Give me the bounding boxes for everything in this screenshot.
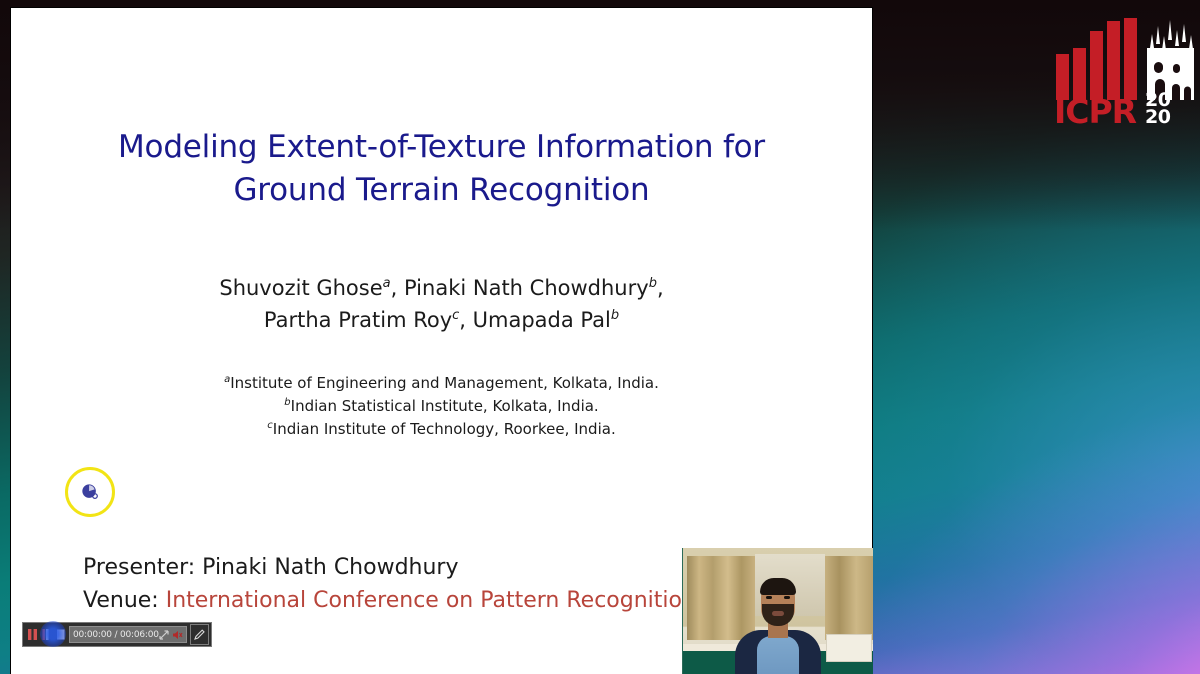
record-icon[interactable] [40, 627, 53, 642]
slide-title-line-1: Modeling Extent-of-Texture Information f… [11, 126, 872, 169]
author-list: Shuvozit Ghosea, Pinaki Nath Chowdhuryb,… [11, 272, 872, 336]
icpr-bar-5 [1124, 18, 1137, 100]
icpr-year: 20 20 [1145, 92, 1170, 126]
time-bar-icons [159, 630, 183, 640]
webcam-person-eye-right [784, 596, 790, 599]
presenter-row: Presenter: Pinaki Nath Chowdhury [83, 551, 696, 584]
affiliation-list: aInstitute of Engineering and Management… [11, 372, 872, 441]
webcam-curtain-right [825, 556, 873, 640]
icpr-bar-3 [1090, 31, 1103, 100]
presenter-webcam-video[interactable] [682, 548, 873, 674]
video-control-bar[interactable]: 00:00:00 / 00:06:00 [22, 622, 212, 647]
author-line-2: Partha Pratim Royc, Umapada Palb [11, 304, 872, 336]
author-affil-marker: a [383, 276, 391, 291]
slide-title-line-2: Ground Terrain Recognition [11, 169, 872, 212]
icpr-logo: ICPR 20 20 [1052, 18, 1196, 128]
icpr-wordmark: ICPR [1054, 95, 1136, 128]
stop-icon[interactable] [54, 627, 67, 642]
webcam-person-hair [760, 578, 796, 595]
duomo-cathedral-icon [1142, 18, 1196, 100]
author-separator: , [391, 276, 404, 300]
author-affil-marker: b [611, 308, 619, 323]
slide-title: Modeling Extent-of-Texture Information f… [11, 126, 872, 212]
playback-buttons [25, 627, 67, 642]
slide-badge [65, 467, 115, 517]
author-name: Partha Pratim Roy [264, 308, 452, 332]
time-display-text: 00:00:00 / 00:06:00 [73, 630, 159, 640]
author-name: Umapada Pal [473, 308, 611, 332]
venue-row: Venue: International Conference on Patte… [83, 584, 696, 617]
webcam-person-shirt [757, 636, 799, 674]
venue-label: Venue: [83, 588, 159, 613]
icpr-bar-4 [1107, 21, 1120, 100]
affiliation-item: cIndian Institute of Technology, Roorkee… [11, 418, 872, 441]
pause-icon[interactable] [26, 627, 39, 642]
presenter-value: Pinaki Nath Chowdhury [202, 555, 458, 580]
affiliation-item: aInstitute of Engineering and Management… [11, 372, 872, 395]
author-name: Pinaki Nath Chowdhury [404, 276, 649, 300]
icpr-year-bottom: 20 [1145, 109, 1170, 126]
webcam-person-eye-left [766, 596, 772, 599]
author-separator: , [657, 276, 664, 300]
author-line-1: Shuvozit Ghosea, Pinaki Nath Chowdhuryb, [11, 272, 872, 304]
author-affil-marker: b [649, 276, 657, 291]
affiliation-item: bIndian Statistical Institute, Kolkata, … [11, 395, 872, 418]
speaker-muted-icon[interactable] [172, 630, 183, 640]
affiliation-text: Indian Statistical Institute, Kolkata, I… [291, 397, 599, 415]
venue-value: International Conference on Pattern Reco… [166, 588, 696, 613]
webcam-background-object [826, 634, 872, 662]
screen: ICPR 20 20 Modeling Extent-of-Texture In… [0, 0, 1200, 674]
affiliation-text: Indian Institute of Technology, Roorkee,… [273, 420, 616, 438]
slide-meta: Presenter: Pinaki Nath Chowdhury Venue: … [83, 551, 696, 617]
pencil-icon[interactable] [190, 624, 209, 645]
logo-badge-icon [81, 483, 99, 501]
author-name: Shuvozit Ghose [219, 276, 382, 300]
webcam-curtain-left [687, 556, 755, 640]
affiliation-text: Institute of Engineering and Management,… [230, 374, 659, 392]
expand-arrows-icon[interactable] [159, 630, 169, 640]
icpr-bars-icon [1056, 18, 1146, 100]
webcam-person-mouth [772, 611, 784, 616]
author-separator: , [459, 308, 472, 332]
time-display[interactable]: 00:00:00 / 00:06:00 [69, 626, 187, 643]
presenter-label: Presenter: [83, 555, 195, 580]
